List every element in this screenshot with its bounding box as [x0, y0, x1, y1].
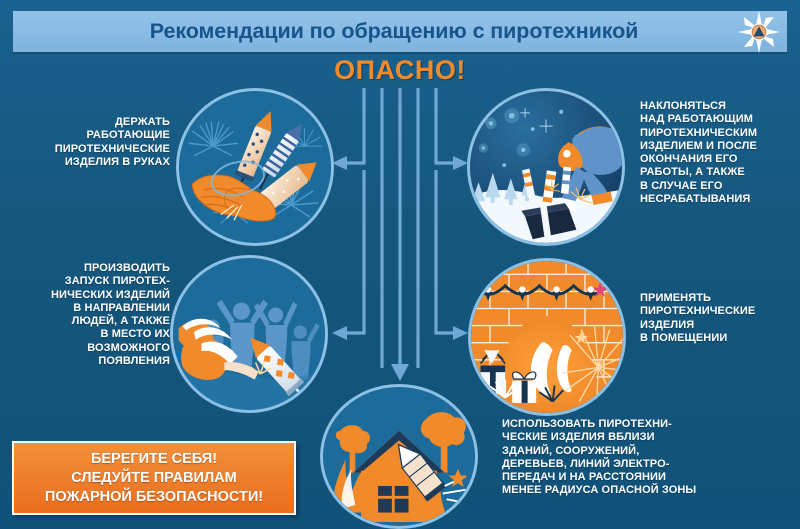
illustration-fireworks-indoors: [468, 258, 626, 416]
illustration-person-bending-over-firework: [467, 88, 625, 246]
rule-text-use-near-buildings: ИСПОЛЬЗОВАТЬ ПИРОТЕХНИ- ЧЕСКИЕ ИЗДЕЛИЯ В…: [502, 418, 800, 498]
rule-text-bend-over: НАКЛОНЯТЬСЯ НАД РАБОТАЮЩИМ ПИРОТЕХНИЧЕСК…: [640, 100, 800, 206]
infographic-poster: Рекомендации по обращению с пиротехникой: [0, 0, 800, 529]
illustration-burning-house-with-rocket: [320, 384, 478, 529]
rule-text-hold-in-hands: ДЕРЖАТЬ РАБОТАЮЩИЕ ПИРОТЕХНИЧЕСКИЕ ИЗДЕЛ…: [10, 116, 170, 169]
rule-text-launch-at-people: ПРОИЗВОДИТЬ ЗАПУСК ПИРОТЕХ- НИЧЕСКИХ ИЗД…: [8, 262, 170, 368]
safety-callout-box: БЕРЕГИТЕ СЕБЯ! СЛЕДУЙТЕ ПРАВИЛАМ ПОЖАРНО…: [12, 441, 296, 515]
safety-callout-text: БЕРЕГИТЕ СЕБЯ! СЛЕДУЙТЕ ПРАВИЛАМ ПОЖАРНО…: [45, 450, 263, 507]
rule-text-use-indoors: ПРИМЕНЯТЬ ПИРОТЕХНИЧЕСКИЕ ИЗДЕЛИЯ В ПОМЕ…: [640, 292, 800, 345]
illustration-hands-holding-lit-fireworks: [176, 88, 334, 246]
illustration-rocket-aimed-at-crowd: [170, 255, 328, 413]
